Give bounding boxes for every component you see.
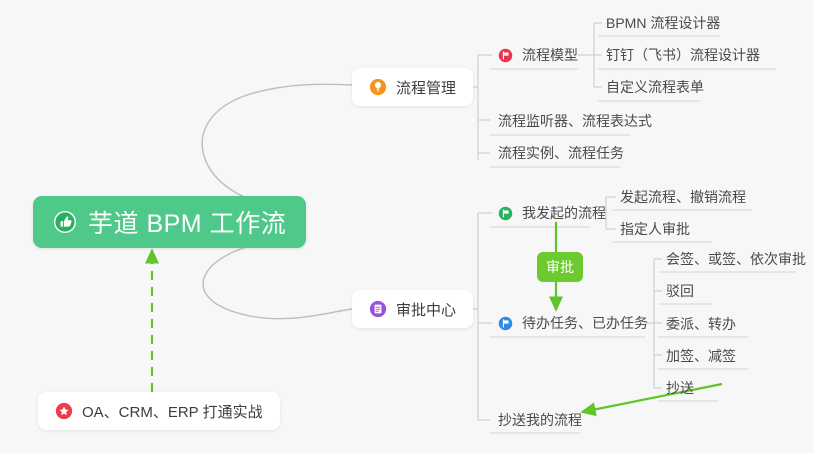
node-add-remove-sign[interactable]: 加签、减签 xyxy=(658,341,746,371)
approval-badge[interactable]: 审批 xyxy=(537,252,583,282)
node-delegate-transfer[interactable]: 委派、转办 xyxy=(658,309,746,339)
node-carbon-copy[interactable]: 抄送 xyxy=(658,373,704,403)
flag-icon xyxy=(498,48,513,63)
node-reject[interactable]: 驳回 xyxy=(658,276,704,306)
node-label-add-remove-sign: 加签、减签 xyxy=(666,346,736,366)
node-todo-done-tasks[interactable]: 待办任务、已办任务 xyxy=(490,308,658,338)
node-cc-to-me-process[interactable]: 抄送我的流程 xyxy=(490,405,592,435)
node-dingtalk-feishu-designer[interactable]: 钉钉（飞书）流程设计器 xyxy=(598,40,770,70)
integration-note-node[interactable]: OA、CRM、ERP 打通实战 xyxy=(38,392,280,430)
branch-label-approval-center: 审批中心 xyxy=(396,299,456,320)
mindmap-canvas: 芋道 BPM 工作流 流程管理 流程模型 BPMN 流程设计器 钉钉（飞书）流程 xyxy=(0,0,814,453)
star-icon xyxy=(55,402,73,420)
approval-badge-label: 审批 xyxy=(546,257,574,277)
lightbulb-icon xyxy=(369,78,387,96)
node-label-start-cancel-process: 发起流程、撤销流程 xyxy=(620,187,746,207)
node-label-process-instance-task: 流程实例、流程任务 xyxy=(498,143,624,163)
node-label-countersign-orsign-sequential: 会签、或签、依次审批 xyxy=(666,249,806,269)
node-label-reject: 驳回 xyxy=(666,281,694,301)
node-label-process-listener-expression: 流程监听器、流程表达式 xyxy=(498,111,652,131)
node-label-designated-approver: 指定人审批 xyxy=(620,219,690,239)
root-label: 芋道 BPM 工作流 xyxy=(88,204,286,240)
node-label-dingtalk-feishu-designer: 钉钉（飞书）流程设计器 xyxy=(606,45,760,65)
branch-node-approval-center[interactable]: 审批中心 xyxy=(352,290,473,328)
node-my-initiated-process[interactable]: 我发起的流程 xyxy=(490,198,616,228)
wire-root-to-approval-center xyxy=(203,240,352,319)
node-label-todo-done-tasks: 待办任务、已办任务 xyxy=(522,313,648,333)
node-label-carbon-copy: 抄送 xyxy=(666,378,694,398)
root-node[interactable]: 芋道 BPM 工作流 xyxy=(33,196,306,248)
node-process-listener-expression[interactable]: 流程监听器、流程表达式 xyxy=(490,106,662,136)
integration-note-label: OA、CRM、ERP 打通实战 xyxy=(82,401,263,422)
thumbs-up-icon xyxy=(53,210,77,234)
node-process-model[interactable]: 流程模型 xyxy=(490,40,588,70)
node-process-instance-task[interactable]: 流程实例、流程任务 xyxy=(490,138,634,168)
flag-icon xyxy=(498,316,513,331)
node-label-custom-process-form: 自定义流程表单 xyxy=(606,77,704,97)
branch-label-process-management: 流程管理 xyxy=(396,77,456,98)
node-designated-approver[interactable]: 指定人审批 xyxy=(612,214,700,244)
node-bpmn-designer[interactable]: BPMN 流程设计器 xyxy=(598,8,730,38)
branch-node-process-management[interactable]: 流程管理 xyxy=(352,68,473,106)
node-countersign-orsign-sequential[interactable]: 会签、或签、依次审批 xyxy=(658,244,814,274)
node-label-bpmn-designer: BPMN 流程设计器 xyxy=(606,13,720,33)
node-start-cancel-process[interactable]: 发起流程、撤销流程 xyxy=(612,182,756,212)
node-label-delegate-transfer: 委派、转办 xyxy=(666,314,736,334)
node-custom-process-form[interactable]: 自定义流程表单 xyxy=(598,72,714,102)
document-icon xyxy=(369,300,387,318)
wire-root-to-process-management xyxy=(202,84,352,206)
node-label-process-model: 流程模型 xyxy=(522,45,578,65)
flag-icon xyxy=(498,206,513,221)
node-label-my-initiated-process: 我发起的流程 xyxy=(522,203,606,223)
node-label-cc-to-me-process: 抄送我的流程 xyxy=(498,410,582,430)
